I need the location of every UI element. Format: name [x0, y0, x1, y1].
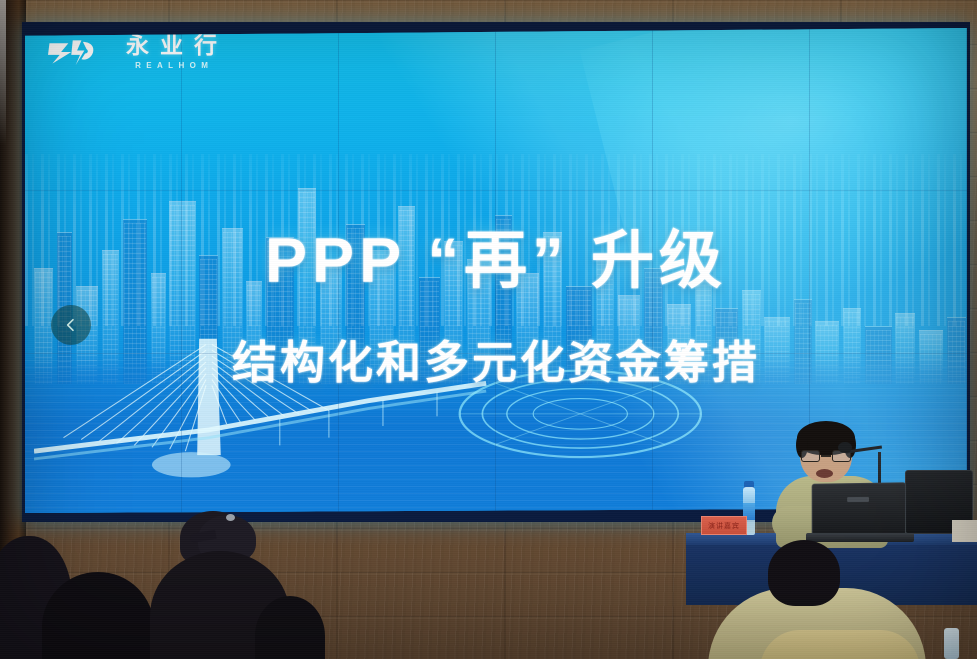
logo-text-block: 永业行 REALHOM [115, 34, 228, 70]
company-logo: 永业行 REALHOM [45, 34, 228, 70]
slide-title: PPP “再” 升级 [25, 210, 967, 301]
logo-english-name: REALHOM [130, 61, 214, 70]
name-placard-text: 演讲嘉宾 [708, 521, 740, 531]
chevron-left-icon [63, 317, 79, 333]
name-placard: 演讲嘉宾 [701, 516, 747, 535]
presenter-mouth [816, 469, 833, 478]
audience-chair-right [760, 630, 920, 659]
cap-button [226, 514, 235, 521]
audience-head-right [768, 540, 840, 606]
laptop-screen [812, 482, 906, 538]
logo-chinese-name: 永业行 [115, 34, 228, 57]
slide-subtitle: 结构化和多元化资金筹措 [25, 326, 967, 391]
audience-water-bottle-right [944, 628, 959, 659]
laptop-base [806, 533, 914, 542]
previous-slide-button[interactable] [51, 305, 91, 345]
laptop-brand-logo [847, 497, 869, 502]
microphone-head [838, 442, 852, 453]
presentation-photo-scene: 永业行 REALHOM PPP “再” 升级 结构化和多元化资金筹措 [0, 0, 977, 659]
yeh-monogram-logo-icon [45, 36, 99, 68]
paper-sheet [952, 520, 977, 542]
